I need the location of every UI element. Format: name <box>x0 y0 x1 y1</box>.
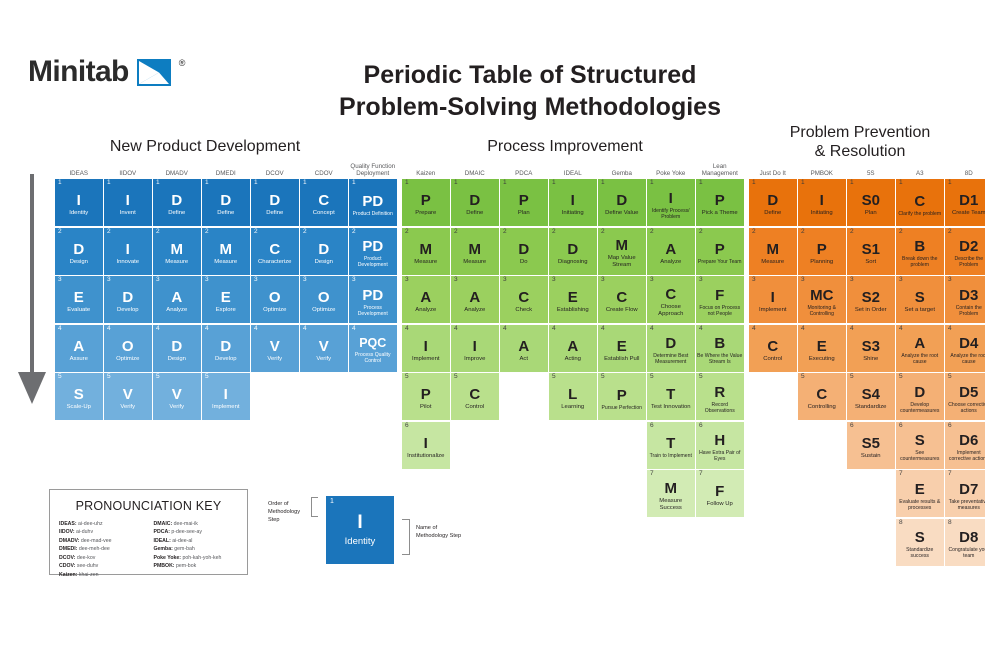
cell-step-number: 3 <box>58 277 62 284</box>
cell-kaizen-6[interactable]: 6IInstitutionalize <box>402 422 450 469</box>
cell-fives-2[interactable]: 2S1Sort <box>847 228 895 275</box>
cell-step-number: 1 <box>699 180 703 187</box>
cell-step-name: Be Where the Value Stream Is <box>697 353 743 365</box>
cell-eightd-7[interactable]: 7D7Take preventative measures <box>945 470 985 517</box>
legend-sample-name: Identity <box>345 536 376 547</box>
cell-fives-4[interactable]: 4S3Shine <box>847 325 895 372</box>
cell-step-number: 5 <box>156 374 160 381</box>
cell-symbol: M <box>616 238 629 253</box>
cell-dcov-2[interactable]: 2CCharacterize <box>251 228 299 275</box>
cell-step-number: 3 <box>205 277 209 284</box>
cell-qfd-2[interactable]: 2PDProduct Development <box>349 228 397 275</box>
cell-ideal-3[interactable]: 3EEstablishing <box>549 276 597 323</box>
cell-step-name: Acting <box>565 356 581 363</box>
cell-pokeyoke-3[interactable]: 3CChoose Approach <box>647 276 695 323</box>
cell-symbol: D5 <box>959 385 978 400</box>
cell-symbol: A <box>469 290 480 305</box>
cell-step-name: Congratulate your team <box>946 547 985 559</box>
cell-justdoit-3[interactable]: 3IImplement <box>749 276 797 323</box>
cell-dmadv-3[interactable]: 3AAnalyze <box>153 276 201 323</box>
cell-symbol: M <box>420 242 433 257</box>
column-header-dmedi: DMEDI <box>202 158 250 179</box>
cell-dmaic-1[interactable]: 1DDefine <box>451 179 499 226</box>
cell-dcov-3[interactable]: 3OOptimize <box>251 276 299 323</box>
cell-step-number: 3 <box>899 277 903 284</box>
cell-lean-2[interactable]: 2PPrepare Your Team <box>696 228 744 275</box>
table-column-pmbok: PMBOK1IInitiating2PPlanning3MCMonitoring… <box>798 158 846 422</box>
cell-symbol: D3 <box>959 288 978 303</box>
cell-gemba-4[interactable]: 4EEstablish Pull <box>598 325 646 372</box>
cell-kaizen-1[interactable]: 1PPrepare <box>402 179 450 226</box>
cell-step-name: Process Quality Control <box>350 352 396 364</box>
cell-symbol: D <box>665 336 676 351</box>
cell-lean-5[interactable]: 5RRecord Observations <box>696 373 744 420</box>
cell-symbol: M <box>665 481 678 496</box>
cell-step-number: 2 <box>454 229 458 236</box>
cell-fives-5[interactable]: 5S4Standardize <box>847 373 895 420</box>
cell-step-number: 1 <box>899 180 903 187</box>
cell-step-number: 1 <box>801 180 805 187</box>
cell-symbol: I <box>424 339 428 354</box>
cell-symbol: E <box>74 290 84 305</box>
cell-a3-2[interactable]: 2BBreak down the problem <box>896 228 944 275</box>
cell-step-name: Initiating <box>562 210 584 217</box>
cell-step-number: 5 <box>948 374 952 381</box>
cell-symbol: M <box>469 242 482 257</box>
cell-step-number: 7 <box>650 471 654 478</box>
cell-iidov-4[interactable]: 4OOptimize <box>104 325 152 372</box>
pronunciation-term: DMEDI: <box>59 546 77 552</box>
cell-step-name: Implement <box>759 307 787 314</box>
cell-lean-3[interactable]: 3FFocus on Process not People <box>696 276 744 323</box>
cell-symbol: V <box>172 387 182 402</box>
cell-step-name: Planning <box>810 259 833 266</box>
legend-sample-symbol: I <box>357 513 362 532</box>
minitab-logo: Minitab ® <box>28 55 185 89</box>
table-column-justdoit: Just Do It1DDefine2MMeasure3IImplement4C… <box>749 158 797 373</box>
cell-fives-1[interactable]: 1S0Plan <box>847 179 895 226</box>
cell-ideal-5[interactable]: 5LLearning <box>549 373 597 420</box>
cell-step-number: 2 <box>303 229 307 236</box>
cell-step-number: 6 <box>650 423 654 430</box>
cell-step-name: Have Extra Pair of Eyes <box>697 450 743 462</box>
cell-step-name: Implement <box>412 356 440 363</box>
pronunciation-say: pem-bok <box>175 563 197 569</box>
brand-wordmark: Minitab <box>28 55 129 89</box>
cell-eightd-5[interactable]: 5D5Choose corrective actions <box>945 373 985 420</box>
cell-step-name: Optimize <box>263 307 286 314</box>
pronunciation-term: IDEAS: <box>59 521 77 527</box>
cell-step-number: 2 <box>107 229 111 236</box>
cell-ideal-1[interactable]: 1IInitiating <box>549 179 597 226</box>
cell-symbol: P <box>817 242 827 257</box>
cell-iidov-2[interactable]: 2IInnovate <box>104 228 152 275</box>
cell-step-number: 4 <box>454 326 458 333</box>
cell-eightd-3[interactable]: 3D3Contain the Problem <box>945 276 985 323</box>
cell-step-number: 5 <box>454 374 458 381</box>
cell-ideas-4[interactable]: 4AAssure <box>55 325 103 372</box>
table-column-gemba: Gemba1DDefine Value2MMap Value Stream3CC… <box>598 158 646 422</box>
cell-eightd-4[interactable]: 4D4Analyze the root cause <box>945 325 985 372</box>
cell-step-number: 2 <box>948 229 952 236</box>
cell-symbol: D2 <box>959 239 978 254</box>
table-column-pdca: PDCA1PPlan2DDo3CCheck4AAct <box>500 158 548 373</box>
cell-step-name: Product Development <box>350 256 396 268</box>
cell-step-name: Analyze the root cause <box>946 353 985 365</box>
cell-step-name: Process Development <box>350 305 396 317</box>
column-header-dmadv: DMADV <box>153 158 201 179</box>
cell-pdca-1[interactable]: 1PPlan <box>500 179 548 226</box>
cell-ideas-3[interactable]: 3EEvaluate <box>55 276 103 323</box>
cell-symbol: A <box>914 336 925 351</box>
cell-step-name: Explore <box>216 307 236 314</box>
cell-symbol: C <box>269 242 280 257</box>
infographic-canvas: Minitab ® Periodic Table of Structured P… <box>0 0 985 656</box>
cell-iidov-5[interactable]: 5VVerify <box>104 373 152 420</box>
cell-step-number: 4 <box>503 326 507 333</box>
cell-pokeyoke-6[interactable]: 6TTrain to Implement <box>647 422 695 469</box>
cell-step-name: Analyze <box>415 307 436 314</box>
cell-pmbok-3[interactable]: 3MCMonitoring & Controlling <box>798 276 846 323</box>
cell-step-number: 3 <box>454 277 458 284</box>
pronunciation-say: ai-dee-al <box>171 538 193 544</box>
cell-step-name: Standardize success <box>897 547 943 559</box>
cell-pdca-4[interactable]: 4AAct <box>500 325 548 372</box>
cell-step-number: 3 <box>801 277 805 284</box>
cell-step-name: Innovate <box>116 259 139 266</box>
cell-step-name: Verify <box>267 356 282 363</box>
pronunciation-term: DMADV: <box>59 538 79 544</box>
cell-step-name: Define <box>466 210 483 217</box>
cell-ideas-2[interactable]: 2DDesign <box>55 228 103 275</box>
cell-pdca-2[interactable]: 2DDo <box>500 228 548 275</box>
cell-step-number: 6 <box>899 423 903 430</box>
cell-step-number: 2 <box>650 229 654 236</box>
cell-step-number: 6 <box>850 423 854 430</box>
cell-step-name: Improve <box>464 356 485 363</box>
cell-symbol: MC <box>810 288 833 303</box>
cell-symbol: D <box>767 193 778 208</box>
column-header-iidov: IIDOV <box>104 158 152 179</box>
pronunciation-entry: Gemba: gem-bah <box>154 545 239 553</box>
cell-symbol: C <box>665 287 676 302</box>
cell-step-number: 4 <box>156 326 160 333</box>
cell-step-name: Analyze <box>660 259 681 266</box>
cell-a3-1[interactable]: 1CClarify the problem <box>896 179 944 226</box>
group-title-new-product-development: New Product Development <box>80 137 330 156</box>
cell-a3-6[interactable]: 6SSee countermeasures <box>896 422 944 469</box>
cell-symbol: O <box>122 339 134 354</box>
cell-dmaic-2[interactable]: 2MMeasure <box>451 228 499 275</box>
pronunciation-entry: IIDOV: ai-duhv <box>59 528 144 536</box>
cell-step-number: 2 <box>156 229 160 236</box>
cell-step-name: Measure <box>214 259 237 266</box>
cell-step-name: Set in Order <box>855 307 887 314</box>
cell-symbol: D <box>73 242 84 257</box>
cell-lean-7[interactable]: 7FFollow Up <box>696 470 744 517</box>
cell-step-number: 7 <box>948 471 952 478</box>
cell-dcov-4[interactable]: 4VVerify <box>251 325 299 372</box>
cell-step-name: Analyze <box>166 307 187 314</box>
cell-step-number: 5 <box>107 374 111 381</box>
cell-step-number: 1 <box>58 180 62 187</box>
cell-symbol: C <box>469 387 480 402</box>
cell-fives-6[interactable]: 6S5Sustain <box>847 422 895 469</box>
cell-step-name: Institutionalize <box>407 453 444 460</box>
cell-step-name: Design <box>168 356 186 363</box>
cell-lean-4[interactable]: 4BBe Where the Value Stream Is <box>696 325 744 372</box>
cell-qfd-3[interactable]: 3PDProcess Development <box>349 276 397 323</box>
cell-dmedi-5[interactable]: 5IImplement <box>202 373 250 420</box>
cell-step-name: Choose corrective actions <box>946 402 985 414</box>
title-line-1: Periodic Table of Structured <box>330 60 730 92</box>
cell-step-number: 1 <box>552 180 556 187</box>
cell-step-name: Scale-Up <box>67 404 91 411</box>
cell-symbol: D <box>122 290 133 305</box>
cell-eightd-6[interactable]: 6D6Implement corrective actions <box>945 422 985 469</box>
pronunciation-term: CDOV: <box>59 563 75 569</box>
cell-qfd-4[interactable]: 4PQCProcess Quality Control <box>349 325 397 372</box>
cell-symbol: D <box>220 339 231 354</box>
cell-dmedi-4[interactable]: 4DDevelop <box>202 325 250 372</box>
cell-dmaic-4[interactable]: 4IImprove <box>451 325 499 372</box>
cell-step-number: 1 <box>405 180 409 187</box>
minitab-arrow-logo-icon <box>137 59 171 86</box>
cell-eightd-1[interactable]: 1D1Create Team <box>945 179 985 226</box>
pronunciation-say: dee-mai-ik <box>172 521 198 527</box>
cell-symbol: PD <box>362 288 383 303</box>
cell-iidov-1[interactable]: 1IInvent <box>104 179 152 226</box>
cell-step-name: Verify <box>169 404 184 411</box>
cell-lean-1[interactable]: 1PPick a Theme <box>696 179 744 226</box>
cell-step-name: Check <box>515 307 532 314</box>
cell-step-number: 1 <box>156 180 160 187</box>
cell-symbol: C <box>914 194 925 209</box>
cell-symbol: P <box>421 193 431 208</box>
cell-justdoit-2[interactable]: 2MMeasure <box>749 228 797 275</box>
cell-dcov-1[interactable]: 1DDefine <box>251 179 299 226</box>
cell-a3-4[interactable]: 4AAnalyze the root cause <box>896 325 944 372</box>
cell-qfd-1[interactable]: 1PDProduct Definition <box>349 179 397 226</box>
cell-dmaic-5[interactable]: 5CControl <box>451 373 499 420</box>
pronunciation-say: ai-duhv <box>75 529 93 535</box>
cell-step-number: 2 <box>254 229 258 236</box>
cell-cdov-2[interactable]: 2DDesign <box>300 228 348 275</box>
pronunciation-entry: DCOV: dee-kov <box>59 554 144 562</box>
cell-justdoit-1[interactable]: 1DDefine <box>749 179 797 226</box>
table-column-kaizen: Kaizen1PPrepare2MMeasure3AAnalyze4IImple… <box>402 158 450 470</box>
cell-kaizen-4[interactable]: 4IImplement <box>402 325 450 372</box>
cell-ideal-2[interactable]: 2DDiagnosing <box>549 228 597 275</box>
cell-symbol: D <box>616 193 627 208</box>
cell-cdov-1[interactable]: 1CConcept <box>300 179 348 226</box>
cell-symbol: D7 <box>959 482 978 497</box>
pronunciation-key: PRONOUNCIATION KEY IDEAS: ai-dee-uhzIIDO… <box>49 489 248 575</box>
cell-ideas-5[interactable]: 5SScale-Up <box>55 373 103 420</box>
cell-symbol: V <box>123 387 133 402</box>
cell-lean-6[interactable]: 6HHave Extra Pair of Eyes <box>696 422 744 469</box>
cell-symbol: V <box>270 339 280 354</box>
cell-step-name: Analyze the root cause <box>897 353 943 365</box>
column-header-ideal: IDEAL <box>549 158 597 179</box>
cell-pokeyoke-5[interactable]: 5TTest Innovation <box>647 373 695 420</box>
cell-step-number: 3 <box>752 277 756 284</box>
column-header-eightd: 8D <box>945 158 985 179</box>
cell-a3-3[interactable]: 3SSet a target <box>896 276 944 323</box>
cell-a3-5[interactable]: 5DDevelop countermeasures <box>896 373 944 420</box>
cell-dmedi-1[interactable]: 1DDefine <box>202 179 250 226</box>
cell-dmadv-5[interactable]: 5VVerify <box>153 373 201 420</box>
cell-symbol: P <box>715 193 725 208</box>
cell-step-name: Design <box>315 259 333 266</box>
cell-step-number: 3 <box>503 277 507 284</box>
cell-step-name: See countermeasures <box>897 450 943 462</box>
cell-symbol: PD <box>362 239 383 254</box>
cell-step-number: 3 <box>948 277 952 284</box>
column-header-pokeyoke: Poke Yoke <box>647 158 695 179</box>
cell-kaizen-2[interactable]: 2MMeasure <box>402 228 450 275</box>
cell-pokeyoke-7[interactable]: 7MMeasure Success <box>647 470 695 517</box>
pronunciation-entry: DMAIC: dee-mai-ik <box>154 520 239 528</box>
cell-dmadv-1[interactable]: 1DDefine <box>153 179 201 226</box>
legend-bracket-right <box>402 519 410 555</box>
cell-symbol: S4 <box>862 387 880 402</box>
cell-step-name: Define <box>764 210 781 217</box>
cell-symbol: C <box>767 339 778 354</box>
cell-symbol: V <box>319 339 329 354</box>
cell-pdca-3[interactable]: 3CCheck <box>500 276 548 323</box>
cell-gemba-2[interactable]: 2MMap Value Stream <box>598 228 646 275</box>
cell-pokeyoke-4[interactable]: 4DDetermine Best Measurement <box>647 325 695 372</box>
cell-symbol: I <box>77 193 81 208</box>
cell-step-number: 4 <box>752 326 756 333</box>
cell-pmbok-2[interactable]: 2PPlanning <box>798 228 846 275</box>
cell-step-name: Identify Process/ Problem <box>648 208 694 220</box>
cell-step-number: 5 <box>205 374 209 381</box>
cell-dmaic-3[interactable]: 3AAnalyze <box>451 276 499 323</box>
cell-symbol: S5 <box>862 436 880 451</box>
cell-dmadv-4[interactable]: 4DDesign <box>153 325 201 372</box>
pronunciation-term: Poke Yoke: <box>154 555 182 561</box>
cell-eightd-2[interactable]: 2D2Describe the Problem <box>945 228 985 275</box>
cell-step-number: 4 <box>899 326 903 333</box>
cell-step-name: Prepare <box>415 210 436 217</box>
pronunciation-entry: CDOV: see-duhv <box>59 562 144 570</box>
cell-step-number: 3 <box>156 277 160 284</box>
cell-step-name: Pilot <box>420 404 431 411</box>
cell-symbol: B <box>714 336 725 351</box>
cell-step-number: 2 <box>850 229 854 236</box>
pronunciation-say: dee-kov <box>75 555 95 561</box>
cell-step-name: Record Observations <box>697 402 743 414</box>
cell-step-name: Describe the Problem <box>946 256 985 268</box>
cell-gemba-5[interactable]: 5PPursue Perfection <box>598 373 646 420</box>
cell-fives-3[interactable]: 3S2Set in Order <box>847 276 895 323</box>
cell-a3-8[interactable]: 8SStandardize success <box>896 519 944 566</box>
table-column-ideal: IDEAL1IInitiating2DDiagnosing3EEstablish… <box>549 158 597 422</box>
pronunciation-key-title: PRONOUNCIATION KEY <box>50 499 247 513</box>
pronunciation-term: DCOV: <box>59 555 75 561</box>
pronunciation-entry: Kaizen: khai-zen <box>59 571 144 579</box>
cell-step-number: 4 <box>948 326 952 333</box>
cell-dmadv-2[interactable]: 2MMeasure <box>153 228 201 275</box>
pronunciation-say: p-dee-see-ay <box>170 529 202 535</box>
cell-step-name: Determine Best Measurement <box>648 353 694 365</box>
cell-step-name: Evaluate <box>67 307 90 314</box>
cell-step-number: 1 <box>601 180 605 187</box>
cell-step-name: Design <box>70 259 88 266</box>
cell-pmbok-4[interactable]: 4EExecuting <box>798 325 846 372</box>
cell-step-name: Act <box>519 356 528 363</box>
cell-ideal-4[interactable]: 4AActing <box>549 325 597 372</box>
cell-pokeyoke-1[interactable]: 1IIdentify Process/ Problem <box>647 179 695 226</box>
cell-kaizen-3[interactable]: 3AAnalyze <box>402 276 450 323</box>
cell-step-name: Map Value Stream <box>599 255 645 269</box>
cell-symbol: P <box>617 388 627 403</box>
cell-step-number: 2 <box>352 229 356 236</box>
pronunciation-list-left: IDEAS: ai-dee-uhzIIDOV: ai-duhvDMADV: de… <box>59 520 144 579</box>
cell-symbol: S <box>915 530 925 545</box>
cell-symbol: I <box>224 387 228 402</box>
page-title: Periodic Table of Structured Problem-Sol… <box>330 60 730 123</box>
cell-pokeyoke-2[interactable]: 2AAnalyze <box>647 228 695 275</box>
cell-cdov-3[interactable]: 3OOptimize <box>300 276 348 323</box>
cell-step-number: 4 <box>58 326 62 333</box>
cell-step-name: Sustain <box>861 453 881 460</box>
table-column-dcov: DCOV1DDefine2CCharacterize3OOptimize4VVe… <box>251 158 299 373</box>
pronunciation-say: khai-zen <box>77 572 98 578</box>
cell-eightd-8[interactable]: 8D8Congratulate your team <box>945 519 985 566</box>
cell-symbol: I <box>571 193 575 208</box>
cell-symbol: D <box>269 193 280 208</box>
cell-step-name: Measure <box>165 259 188 266</box>
cell-step-name: Clarify the problem <box>898 211 941 217</box>
cell-step-number: 4 <box>254 326 258 333</box>
cell-iidov-3[interactable]: 3DDevelop <box>104 276 152 323</box>
cell-step-name: Pick a Theme <box>702 210 738 217</box>
cell-step-name: Initiating <box>811 210 833 217</box>
cell-symbol: D <box>914 385 925 400</box>
cell-dmedi-2[interactable]: 2MMeasure <box>202 228 250 275</box>
cell-step-name: Concept <box>313 210 335 217</box>
cell-symbol: I <box>820 193 824 208</box>
cell-step-name: Controlling <box>808 404 836 411</box>
cell-pmbok-1[interactable]: 1IInitiating <box>798 179 846 226</box>
cell-gemba-1[interactable]: 1DDefine Value <box>598 179 646 226</box>
cell-step-number: 3 <box>850 277 854 284</box>
cell-step-number: 5 <box>405 374 409 381</box>
cell-pmbok-5[interactable]: 5CControlling <box>798 373 846 420</box>
cell-cdov-4[interactable]: 4VVerify <box>300 325 348 372</box>
cell-step-name: Test Innovation <box>651 404 691 411</box>
cell-symbol: F <box>715 484 724 499</box>
cell-a3-7[interactable]: 7EEvaluate results & processes <box>896 470 944 517</box>
table-column-dmaic: DMAIC1DDefine2MMeasure3AAnalyze4IImprove… <box>451 158 499 422</box>
cell-symbol: O <box>318 290 330 305</box>
cell-step-number: 3 <box>107 277 111 284</box>
cell-step-name: Establish Pull <box>604 356 639 363</box>
pronunciation-say: poh-kah-yoh-keh <box>181 555 221 561</box>
legend-sample-number: 1 <box>330 498 334 505</box>
legend-name-label: Name of Methodology Step <box>416 524 470 540</box>
cell-gemba-3[interactable]: 3CCreate Flow <box>598 276 646 323</box>
cell-symbol: PD <box>362 194 383 209</box>
cell-justdoit-4[interactable]: 4CControl <box>749 325 797 372</box>
cell-ideas-1[interactable]: 1IIdentity <box>55 179 103 226</box>
cell-kaizen-5[interactable]: 5PPilot <box>402 373 450 420</box>
cell-step-name: Set a target <box>905 307 935 314</box>
cell-dmedi-3[interactable]: 3EExplore <box>202 276 250 323</box>
